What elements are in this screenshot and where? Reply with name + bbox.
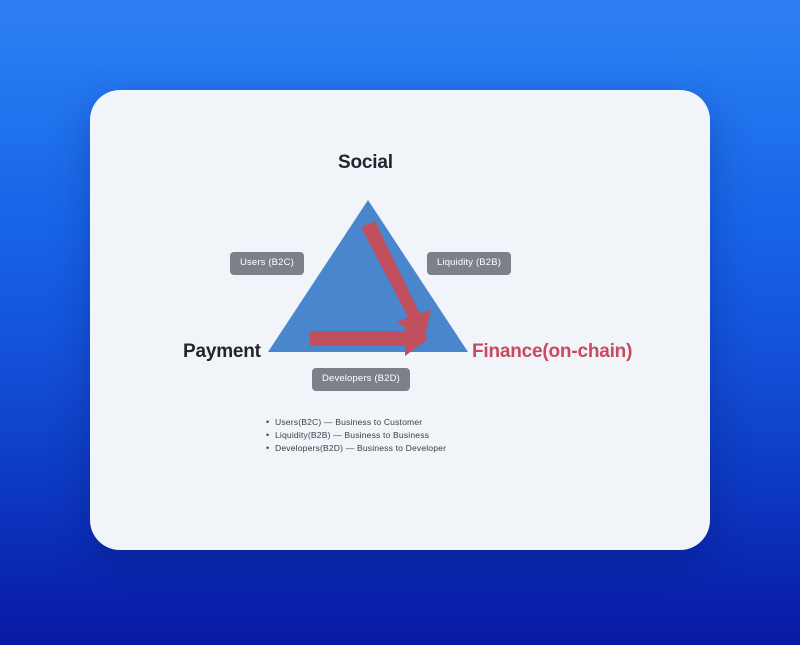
triangle-diagram-svg: [90, 90, 710, 550]
legend-item: • Users(B2C) — Business to Customer: [266, 416, 606, 429]
vertex-label-social: Social: [338, 152, 393, 174]
page-background: Social Payment Finance(on-chain) Users (…: [0, 0, 800, 645]
bullet-icon: •: [266, 429, 275, 442]
vertex-label-finance: Finance(on-chain): [472, 341, 632, 363]
legend-list: • Users(B2C) — Business to Customer • Li…: [266, 416, 606, 456]
chip-developers-b2d: Developers (B2D): [312, 368, 410, 391]
legend-item: • Developers(B2D) — Business to Develope…: [266, 442, 606, 455]
blue-triangle: [268, 200, 468, 352]
legend-item-text: Developers(B2D) — Business to Developer: [275, 442, 446, 455]
content-card: Social Payment Finance(on-chain) Users (…: [90, 90, 710, 550]
legend-item-text: Liquidity(B2B) — Business to Business: [275, 429, 429, 442]
bullet-icon: •: [266, 416, 275, 429]
legend-item-text: Users(B2C) — Business to Customer: [275, 416, 422, 429]
legend-item: • Liquidity(B2B) — Business to Business: [266, 429, 606, 442]
bullet-icon: •: [266, 442, 275, 455]
triangle-diagram: Social Payment Finance(on-chain) Users (…: [90, 90, 710, 550]
chip-liquidity-b2b: Liquidity (B2B): [427, 252, 511, 275]
vertex-label-payment: Payment: [183, 341, 261, 363]
chip-users-b2c: Users (B2C): [230, 252, 304, 275]
